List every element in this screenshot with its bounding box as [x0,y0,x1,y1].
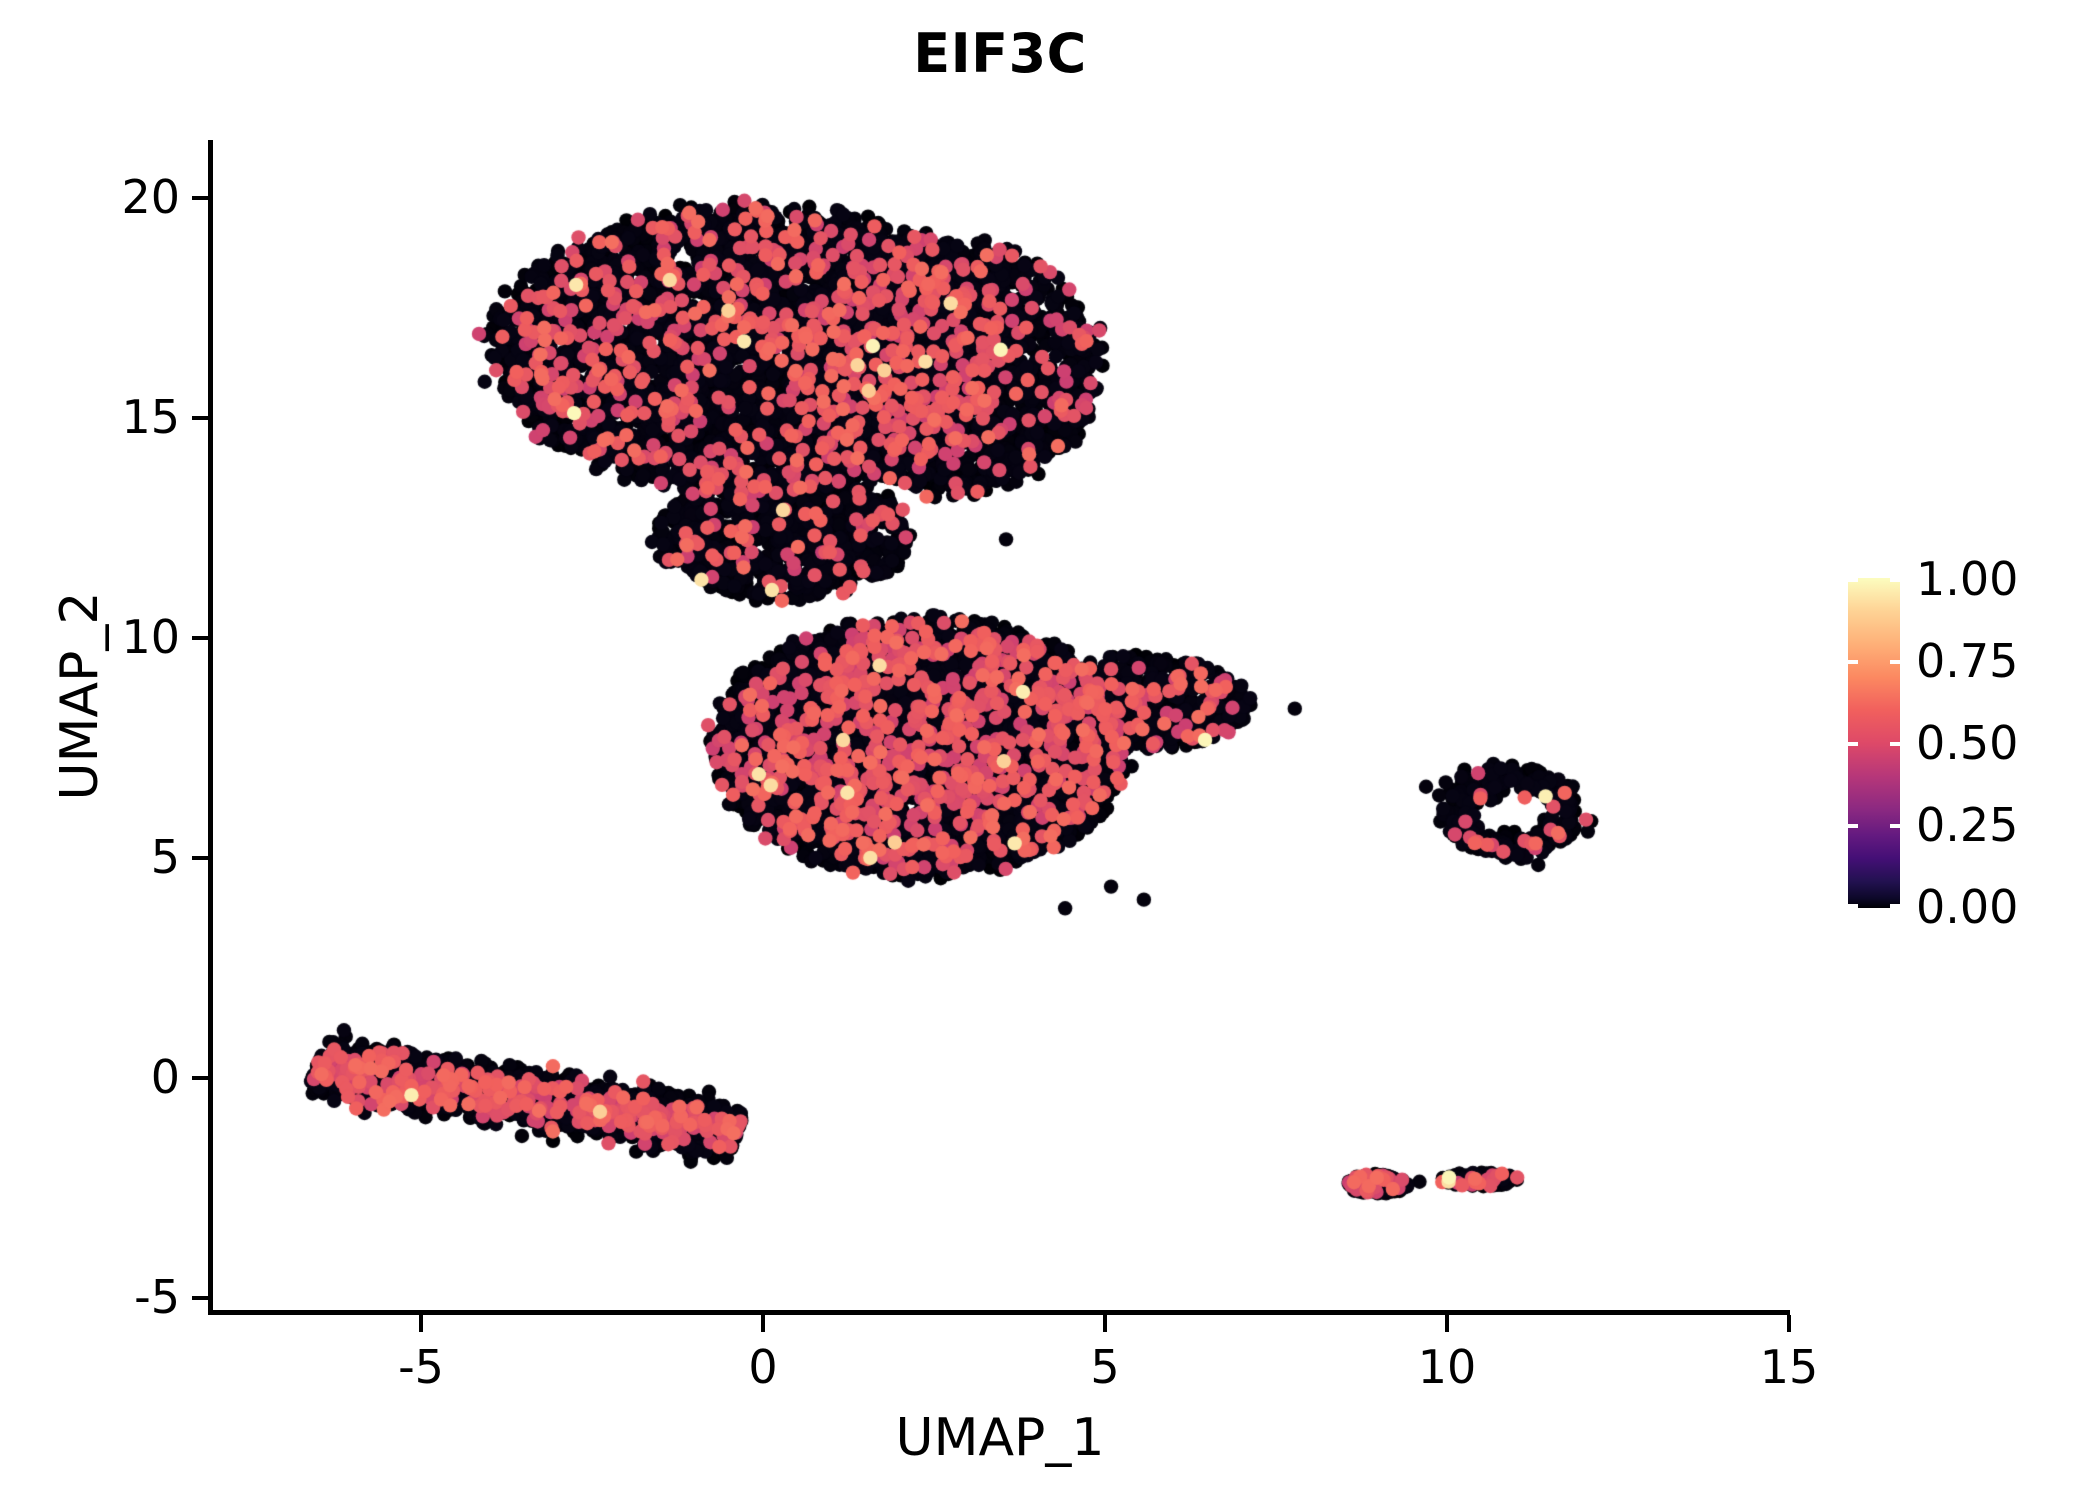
colorbar-label-0.00: 0.00 [1916,884,2086,930]
colorbar-tick-0.00 [1848,904,1900,908]
y-tick-label-neg5: -5 [0,1270,180,1324]
colorbar-label-0.25: 0.25 [1916,802,2086,848]
x-tick-label-neg5: -5 [341,1340,501,1394]
colorbar[interactable]: 1.00 0.75 0.50 0.25 0.00 [1848,578,2078,908]
y-axis-label: UMAP_2 [50,296,110,1096]
y-tick-mark-5 [192,856,209,860]
colorbar-tick-0.75 [1848,660,1900,664]
x-tick-label-5: 5 [1025,1340,1185,1394]
x-tick-mark-10 [1445,1315,1449,1332]
x-tick-label-15: 15 [1709,1340,1869,1394]
colorbar-label-1.00: 1.00 [1916,556,2086,602]
y-tick-label-20: 20 [0,170,180,224]
x-tick-mark-0 [761,1315,765,1332]
scatter-canvas [212,140,1787,1312]
colorbar-tick-0.50 [1848,742,1900,746]
y-tick-mark-0 [192,1076,209,1080]
colorbar-tick-0.25 [1848,824,1900,828]
x-tick-label-10: 10 [1367,1340,1527,1394]
y-tick-mark-neg5 [192,1296,209,1300]
x-tick-mark-15 [1787,1315,1791,1332]
x-tick-label-0: 0 [683,1340,843,1394]
figure-root: EIF3C 20 15 10 5 0 -5 -5 0 5 10 15 UMAP_… [0,0,2100,1500]
x-tick-mark-5 [1103,1315,1107,1332]
colorbar-tick-1.00 [1848,578,1900,582]
y-axis-spine [208,140,213,1315]
colorbar-label-0.50: 0.50 [1916,720,2086,766]
y-tick-mark-20 [192,196,209,200]
plot-area[interactable] [212,140,1787,1312]
x-axis-spine [208,1310,1790,1315]
page-title: EIF3C [210,22,1790,85]
y-tick-mark-10 [192,636,209,640]
x-axis-label: UMAP_1 [210,1408,1790,1468]
y-tick-mark-15 [192,416,209,420]
x-tick-mark-neg5 [419,1315,423,1332]
colorbar-label-0.75: 0.75 [1916,638,2086,684]
